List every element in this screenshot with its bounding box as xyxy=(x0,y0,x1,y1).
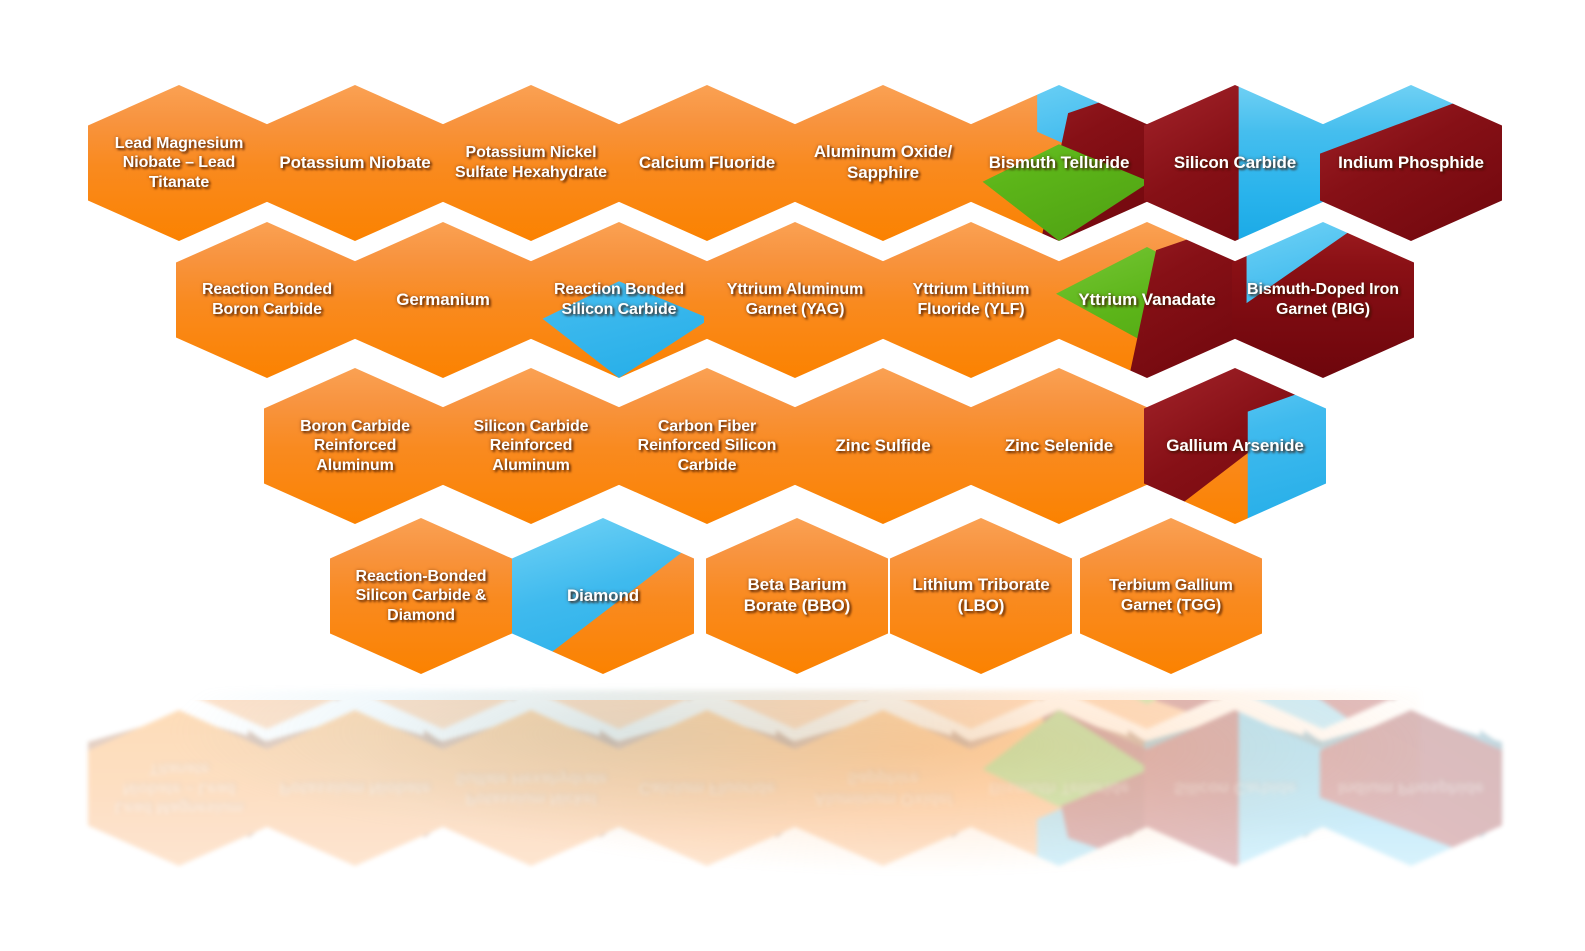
hex-cell-yttrium-vanadate[interactable]: Yttrium Vanadate xyxy=(1056,222,1238,378)
hex-cell-potassium-niobate[interactable]: Potassium Niobate xyxy=(264,710,446,866)
hex-cell-silicon-carbide[interactable]: Silicon Carbide xyxy=(1144,85,1326,241)
hex-face xyxy=(512,518,694,674)
hex-face xyxy=(330,518,512,674)
hex-cell-gallium-arsenide[interactable]: Gallium Arsenide xyxy=(1144,368,1326,524)
hex-base-fill xyxy=(890,518,1072,674)
hex-label: Lead Magnesium Niobate – Lead Titanate xyxy=(94,710,264,866)
hex-face xyxy=(352,700,534,729)
hex-face xyxy=(88,85,270,241)
hex-segment-cyan-bottom-rhombus xyxy=(528,700,710,729)
hex-label: Aluminum Oxide/ Sapphire xyxy=(798,710,968,866)
hex-right-edge xyxy=(512,700,542,701)
hex-segment-dred-right xyxy=(968,710,1150,866)
hex-base-fill xyxy=(1144,710,1326,866)
hex-label: Yttrium Lithium Fluoride (YLF) xyxy=(886,700,1056,729)
hex-face xyxy=(528,222,710,378)
hex-right-edge xyxy=(1040,700,1070,701)
hex-right-edge xyxy=(776,730,806,838)
hex-cell-indium-phosphide[interactable]: Indium Phosphide xyxy=(1320,710,1502,866)
hex-segment-dred-right xyxy=(1056,700,1238,729)
hex-cell-reaction-bonded-silicon-carbide[interactable]: Reaction Bonded Silicon Carbide xyxy=(528,222,710,378)
hex-cell-yttrium-aluminum-garnet-yag[interactable]: Yttrium Aluminum Garnet (YAG) xyxy=(704,700,886,729)
hex-base-fill xyxy=(352,700,534,729)
hex-base-fill xyxy=(352,222,534,378)
hex-face xyxy=(616,710,798,866)
hex-base-fill xyxy=(440,85,622,241)
hex-face xyxy=(968,85,1150,241)
hex-cell-silicon-carbide[interactable]: Silicon Carbide xyxy=(1144,710,1326,866)
reflection-copy: Lead Magnesium Niobate – Lead TitanatePo… xyxy=(0,700,1585,950)
hex-base-fill xyxy=(704,700,886,729)
hex-face xyxy=(1056,222,1238,378)
hex-bottom-edge xyxy=(968,706,1150,752)
hex-face xyxy=(1144,85,1326,241)
hex-cell-bismuth-telluride[interactable]: Bismuth Telluride xyxy=(968,85,1150,241)
hex-base-fill xyxy=(792,710,974,866)
hex-label: Yttrium Vanadate xyxy=(1062,700,1232,729)
hex-face xyxy=(264,368,446,524)
hex-face xyxy=(968,710,1150,866)
hex-base-fill xyxy=(330,518,512,674)
hex-face xyxy=(792,85,974,241)
hex-cell-boron-carbide-reinforced-aluminum[interactable]: Boron Carbide Reinforced Aluminum xyxy=(264,368,446,524)
hex-base-fill xyxy=(1056,700,1238,729)
hex-bottom-edge xyxy=(616,706,798,752)
hex-right-edge xyxy=(864,700,894,701)
hex-segment-green-top-wedge xyxy=(1056,700,1238,729)
hex-face xyxy=(1144,710,1326,866)
hex-base-fill xyxy=(264,368,446,524)
hex-face xyxy=(968,368,1150,524)
hex-right-edge xyxy=(600,730,630,838)
hex-right-edge xyxy=(248,730,278,838)
hex-label: Reaction Bonded Boron Carbide xyxy=(182,700,352,729)
hex-face xyxy=(616,368,798,524)
honeycomb-diagram: Lead Magnesium Niobate – Lead TitanatePo… xyxy=(0,0,1585,951)
hex-face xyxy=(1232,700,1414,729)
hex-cell-diamond[interactable]: Diamond xyxy=(512,518,694,674)
hex-face xyxy=(440,368,622,524)
hex-cell-silicon-carbide-reinforced-aluminum[interactable]: Silicon Carbide Reinforced Aluminum xyxy=(440,368,622,524)
hex-base-fill xyxy=(880,700,1062,729)
hex-cell-germanium[interactable]: Germanium xyxy=(352,700,534,729)
hex-base-fill xyxy=(528,700,710,729)
hex-base-fill xyxy=(968,368,1150,524)
hex-cell-zinc-selenide[interactable]: Zinc Selenide xyxy=(968,368,1150,524)
hex-cell-calcium-fluoride[interactable]: Calcium Fluoride xyxy=(616,710,798,866)
hex-face xyxy=(1320,85,1502,241)
hex-right-edge xyxy=(424,730,454,838)
hex-cell-yttrium-lithium-fluoride-ylf[interactable]: Yttrium Lithium Fluoride (YLF) xyxy=(880,700,1062,729)
hex-base-fill xyxy=(706,518,888,674)
hex-right-edge xyxy=(952,730,982,838)
hex-base-fill xyxy=(440,710,622,866)
hex-base-fill xyxy=(1320,710,1502,866)
hex-label: Germanium xyxy=(358,700,528,729)
hex-bottom-edge xyxy=(264,706,446,752)
hex-cell-reaction-bonded-silicon-carbide[interactable]: Reaction Bonded Silicon Carbide xyxy=(528,700,710,729)
hex-base-fill xyxy=(1232,700,1414,729)
hex-base-fill xyxy=(968,710,1150,866)
hex-face xyxy=(88,710,270,866)
hex-cell-reaction-bonded-boron-carbide[interactable]: Reaction Bonded Boron Carbide xyxy=(176,700,358,729)
hex-base-fill xyxy=(1080,518,1262,674)
hex-cell-lead-magnesium-niobate-lead-titanate[interactable]: Lead Magnesium Niobate – Lead Titanate xyxy=(88,85,270,241)
hex-cell-yttrium-aluminum-garnet-yag[interactable]: Yttrium Aluminum Garnet (YAG) xyxy=(704,222,886,378)
hex-right-edge xyxy=(1128,730,1158,838)
hex-base-fill xyxy=(616,368,798,524)
floor-glow xyxy=(120,690,1420,920)
hex-face xyxy=(1056,700,1238,729)
hex-label: Bismuth Telluride xyxy=(974,710,1144,866)
hex-cell-bismuth-telluride[interactable]: Bismuth Telluride xyxy=(968,710,1150,866)
hex-cell-lead-magnesium-niobate-lead-titanate[interactable]: Lead Magnesium Niobate – Lead Titanate xyxy=(88,710,270,866)
hex-cell-beta-barium-borate-bbo[interactable]: Beta Barium Borate (BBO) xyxy=(706,518,888,674)
hex-face xyxy=(1144,368,1326,524)
hex-base-fill xyxy=(792,85,974,241)
hex-bottom-edge xyxy=(792,706,974,752)
hex-cell-zinc-sulfide[interactable]: Zinc Sulfide xyxy=(792,368,974,524)
hex-base-fill xyxy=(88,710,270,866)
hex-label: Reaction Bonded Silicon Carbide xyxy=(534,700,704,729)
hex-face xyxy=(616,85,798,241)
hex-base-fill xyxy=(88,85,270,241)
hex-cell-bismuth-doped-iron-garnet-big[interactable]: Bismuth-Doped Iron Garnet (BIG) xyxy=(1232,222,1414,378)
hex-right-edge xyxy=(1304,730,1334,838)
hex-base-fill xyxy=(792,368,974,524)
hex-label: Potassium Nickel Sulfate Hexahydrate xyxy=(446,710,616,866)
hex-face xyxy=(528,700,710,729)
hex-face xyxy=(1232,222,1414,378)
hex-cell-potassium-niobate[interactable]: Potassium Niobate xyxy=(264,85,446,241)
hex-segment-dred-lower-right xyxy=(1320,710,1502,866)
hex-face xyxy=(890,518,1072,674)
hex-base-fill xyxy=(704,222,886,378)
hex-cell-aluminum-oxide-sapphire[interactable]: Aluminum Oxide/ Sapphire xyxy=(792,85,974,241)
hex-cell-potassium-nickel-sulfate-hexahydrate[interactable]: Potassium Nickel Sulfate Hexahydrate xyxy=(440,85,622,241)
hex-face xyxy=(706,518,888,674)
hex-base-fill xyxy=(176,700,358,729)
hex-base-fill xyxy=(264,85,446,241)
hex-cell-potassium-nickel-sulfate-hexahydrate[interactable]: Potassium Nickel Sulfate Hexahydrate xyxy=(440,710,622,866)
hex-face xyxy=(792,368,974,524)
hex-label: Calcium Fluoride xyxy=(622,710,792,866)
hex-right-edge xyxy=(688,700,718,701)
hex-face xyxy=(264,710,446,866)
hex-label: Indium Phosphide xyxy=(1326,710,1496,866)
reflection-area: Lead Magnesium Niobate – Lead TitanatePo… xyxy=(0,700,1585,950)
hex-cell-carbon-fiber-reinforced-silicon-carbide[interactable]: Carbon Fiber Reinforced Silicon Carbide xyxy=(616,368,798,524)
hex-base-fill xyxy=(616,85,798,241)
hex-face xyxy=(176,222,358,378)
hex-cell-calcium-fluoride[interactable]: Calcium Fluoride xyxy=(616,85,798,241)
hex-bottom-edge xyxy=(440,706,622,752)
hex-face xyxy=(792,710,974,866)
hex-right-edge xyxy=(1216,700,1246,701)
hex-segment-cyan-topright xyxy=(968,710,1150,866)
hex-cell-yttrium-vanadate[interactable]: Yttrium Vanadate xyxy=(1056,700,1238,729)
hex-base-fill xyxy=(264,710,446,866)
hex-segment-green-bottom-rhombus xyxy=(968,710,1150,866)
hex-right-edge xyxy=(1480,730,1510,838)
hex-face xyxy=(440,710,622,866)
hex-face xyxy=(176,700,358,729)
hex-cell-reaction-bonded-boron-carbide[interactable]: Reaction Bonded Boron Carbide xyxy=(176,222,358,378)
hex-right-edge xyxy=(336,700,366,701)
hex-cell-yttrium-lithium-fluoride-ylf[interactable]: Yttrium Lithium Fluoride (YLF) xyxy=(880,222,1062,378)
hex-face xyxy=(352,222,534,378)
hex-face xyxy=(880,222,1062,378)
hex-segment-dred-left-parallelogram xyxy=(1144,710,1326,866)
hex-right-edge xyxy=(1392,700,1422,701)
hex-face xyxy=(704,700,886,729)
hex-face xyxy=(880,700,1062,729)
hex-label: Potassium Niobate xyxy=(270,710,440,866)
hex-bottom-edge xyxy=(1144,706,1326,752)
hex-base-fill xyxy=(176,222,358,378)
hex-base-fill xyxy=(616,710,798,866)
hex-bottom-edge xyxy=(88,706,270,752)
hex-face xyxy=(704,222,886,378)
hex-cell-indium-phosphide[interactable]: Indium Phosphide xyxy=(1320,85,1502,241)
hex-cell-aluminum-oxide-sapphire[interactable]: Aluminum Oxide/ Sapphire xyxy=(792,710,974,866)
hex-label: Bismuth-Doped Iron Garnet (BIG) xyxy=(1238,700,1408,729)
hex-label: Yttrium Aluminum Garnet (YAG) xyxy=(710,700,880,729)
hex-cell-terbium-gallium-garnet-tgg[interactable]: Terbium Gallium Garnet (TGG) xyxy=(1080,518,1262,674)
hex-cell-bismuth-doped-iron-garnet-big[interactable]: Bismuth-Doped Iron Garnet (BIG) xyxy=(1232,700,1414,729)
hex-label: Silicon Carbide xyxy=(1150,710,1320,866)
hex-cell-lithium-triborate-lbo[interactable]: Lithium Triborate (LBO) xyxy=(890,518,1072,674)
hex-segment-cyan-upper-left-triangle xyxy=(1232,700,1414,729)
hex-bottom-edge xyxy=(1320,706,1502,752)
hex-face xyxy=(264,85,446,241)
hex-base-fill xyxy=(440,368,622,524)
hex-base-fill xyxy=(880,222,1062,378)
hex-cell-reaction-bonded-silicon-carbide-and-diamond[interactable]: Reaction-Bonded Silicon Carbide & Diamon… xyxy=(330,518,512,674)
hex-face xyxy=(440,85,622,241)
hex-face xyxy=(1080,518,1262,674)
hex-face xyxy=(1320,710,1502,866)
hex-cell-germanium[interactable]: Germanium xyxy=(352,222,534,378)
